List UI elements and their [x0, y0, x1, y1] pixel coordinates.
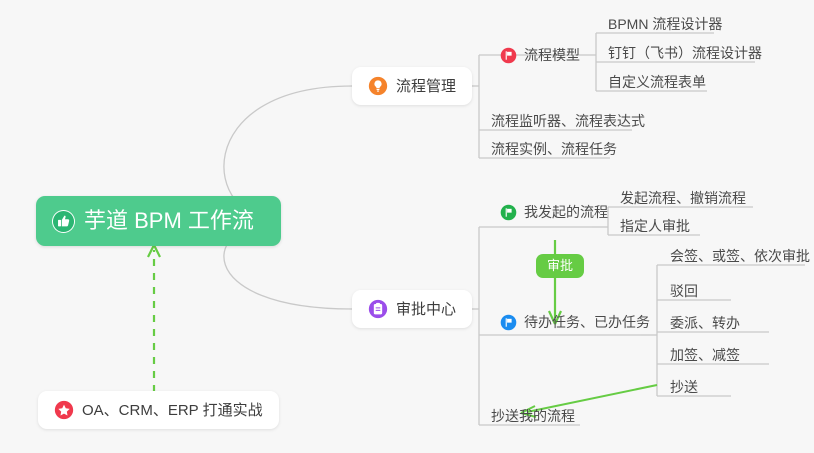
callout-node-integration[interactable]: OA、CRM、ERP 打通实战 — [38, 391, 279, 429]
thumbs-up-icon — [52, 210, 75, 233]
leaf-label: 我发起的流程 — [524, 205, 608, 219]
approval-tag-label: 审批 — [547, 258, 573, 273]
leaf-label: 抄送我的流程 — [491, 409, 575, 423]
leaf-node-custom-form[interactable]: 自定义流程表单 — [598, 67, 716, 97]
leaf-node-add-remove-sign[interactable]: 加签、减签 — [660, 340, 750, 370]
lightbulb-icon — [368, 76, 388, 96]
flag-icon — [500, 314, 517, 331]
leaf-node-listener-expression[interactable]: 流程监听器、流程表达式 — [481, 106, 655, 136]
flag-icon — [500, 204, 517, 221]
leaf-label: 驳回 — [670, 284, 698, 298]
leaf-label: BPMN 流程设计器 — [608, 17, 722, 31]
approval-tag: 审批 — [536, 254, 584, 278]
leaf-node-assignee-approval[interactable]: 指定人审批 — [610, 211, 700, 241]
leaf-node-reject[interactable]: 驳回 — [660, 276, 708, 306]
branch-node-process-management[interactable]: 流程管理 — [352, 67, 472, 105]
leaf-label: 流程监听器、流程表达式 — [491, 114, 645, 128]
leaf-label: 委派、转办 — [670, 316, 740, 330]
flag-icon — [500, 47, 517, 64]
leaf-node-start-cancel[interactable]: 发起流程、撤销流程 — [610, 183, 756, 213]
branch-label: 审批中心 — [396, 302, 456, 317]
leaf-label: 会签、或签、依次审批 — [670, 249, 810, 263]
leaf-label: 流程实例、流程任务 — [491, 142, 617, 156]
leaf-label: 自定义流程表单 — [608, 75, 706, 89]
leaf-node-instance-task[interactable]: 流程实例、流程任务 — [481, 134, 627, 164]
leaf-label: 发起流程、撤销流程 — [620, 191, 746, 205]
leaf-label: 抄送 — [670, 380, 698, 394]
branch-node-approval-center[interactable]: 审批中心 — [352, 290, 472, 328]
leaf-node-process-model[interactable]: 流程模型 — [490, 40, 590, 70]
clipboard-icon — [368, 299, 388, 319]
leaf-node-cc[interactable]: 抄送 — [660, 372, 708, 402]
leaf-node-delegate-transfer[interactable]: 委派、转办 — [660, 308, 750, 338]
star-icon — [54, 400, 74, 420]
leaf-label: 流程模型 — [524, 48, 580, 62]
leaf-node-cc-to-me[interactable]: 抄送我的流程 — [481, 401, 585, 431]
leaf-label: 钉钉（飞书）流程设计器 — [608, 46, 762, 60]
leaf-label: 加签、减签 — [670, 348, 740, 362]
mindmap-canvas: 芋道 BPM 工作流 流程管理 流程模型 BPMN 流程设计器 钉钉（飞书）流程 — [0, 0, 814, 453]
callout-label: OA、CRM、ERP 打通实战 — [82, 403, 263, 418]
root-label: 芋道 BPM 工作流 — [84, 210, 254, 232]
leaf-label: 待办任务、已办任务 — [524, 315, 650, 329]
leaf-node-bpmn-designer[interactable]: BPMN 流程设计器 — [598, 9, 732, 39]
leaf-node-todo-done-tasks[interactable]: 待办任务、已办任务 — [490, 307, 660, 337]
leaf-label: 指定人审批 — [620, 219, 690, 233]
root-node[interactable]: 芋道 BPM 工作流 — [36, 196, 281, 246]
leaf-node-my-initiated[interactable]: 我发起的流程 — [490, 197, 618, 227]
leaf-node-dingtalk-designer[interactable]: 钉钉（飞书）流程设计器 — [598, 38, 772, 68]
branch-label: 流程管理 — [396, 79, 456, 94]
leaf-node-countersign[interactable]: 会签、或签、依次审批 — [660, 241, 814, 271]
